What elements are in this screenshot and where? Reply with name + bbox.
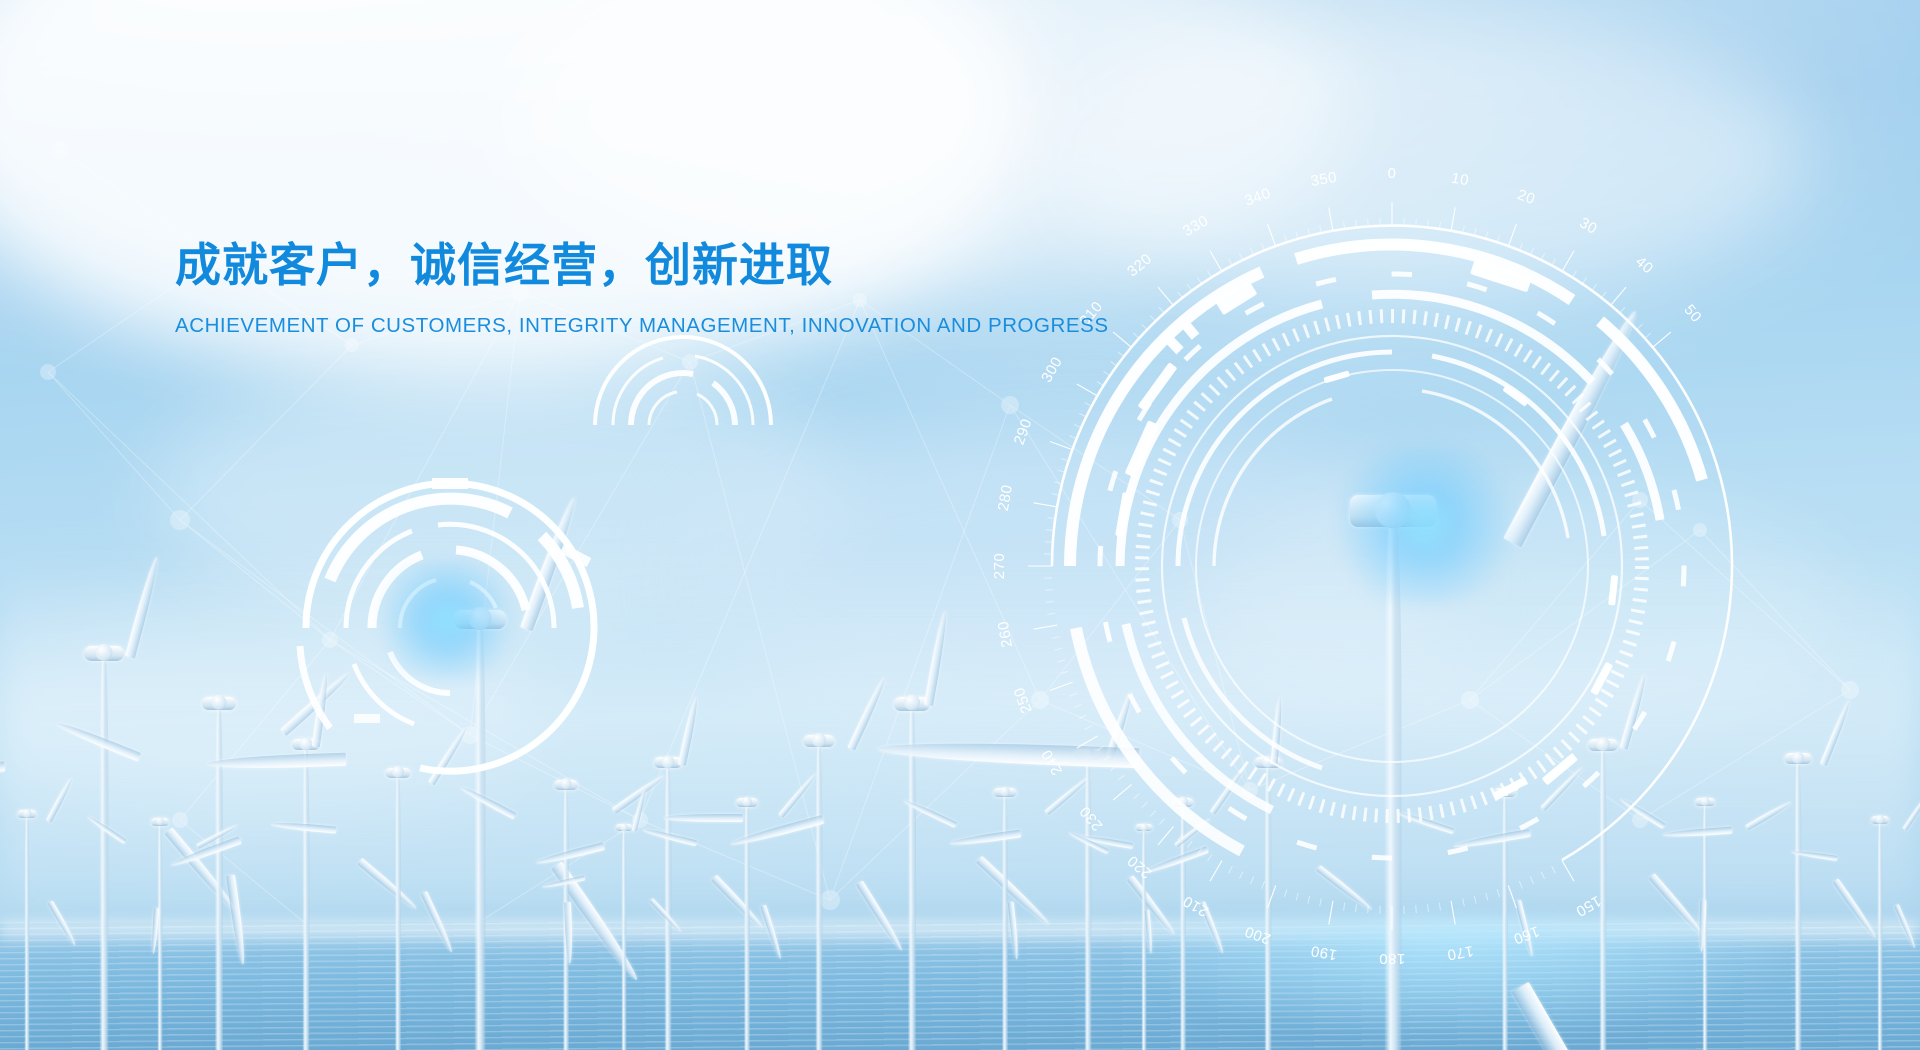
- wind-turbine-icon: [1262, 760, 1274, 1050]
- lens-flare-icon: [352, 560, 542, 680]
- wind-turbine-icon: [1140, 826, 1148, 1050]
- wind-turbine-icon: [155, 820, 164, 1050]
- wind-turbine-icon: [1792, 756, 1804, 1050]
- wind-turbine-icon: [212, 700, 226, 1050]
- wind-turbine-icon: [560, 782, 571, 1050]
- page-title: 成就客户，诚信经营，创新进取: [175, 238, 995, 292]
- wind-turbine-icon: [470, 615, 490, 1050]
- wind-turbine-icon: [1700, 800, 1710, 1050]
- wind-turbine-icon: [1875, 818, 1884, 1050]
- wind-turbine-icon: [1500, 790, 1510, 1050]
- wind-turbine-icon: [96, 650, 112, 1050]
- wind-turbine-icon: [1000, 790, 1010, 1050]
- wind-turbine-icon: [1596, 742, 1609, 1050]
- wind-turbine-farm: [0, 0, 1920, 1050]
- wind-turbine-icon: [392, 770, 403, 1050]
- wind-turbine-icon: [620, 826, 628, 1050]
- wind-turbine-icon: [300, 742, 312, 1050]
- wind-turbine-icon: [22, 812, 31, 1050]
- wind-turbine-icon: [662, 760, 674, 1050]
- banner-stage: 0102030405015016017018019020021022023024…: [0, 0, 1920, 1050]
- banner-copy: 成就客户，诚信经营，创新进取 ACHIEVEMENT OF CUSTOMERS,…: [175, 238, 995, 338]
- wind-turbine-icon: [812, 738, 825, 1050]
- lens-flare-icon: [1300, 445, 1550, 605]
- wind-turbine-icon: [1082, 752, 1094, 1050]
- page-subtitle: ACHIEVEMENT OF CUSTOMERS, INTEGRITY MANA…: [175, 314, 995, 338]
